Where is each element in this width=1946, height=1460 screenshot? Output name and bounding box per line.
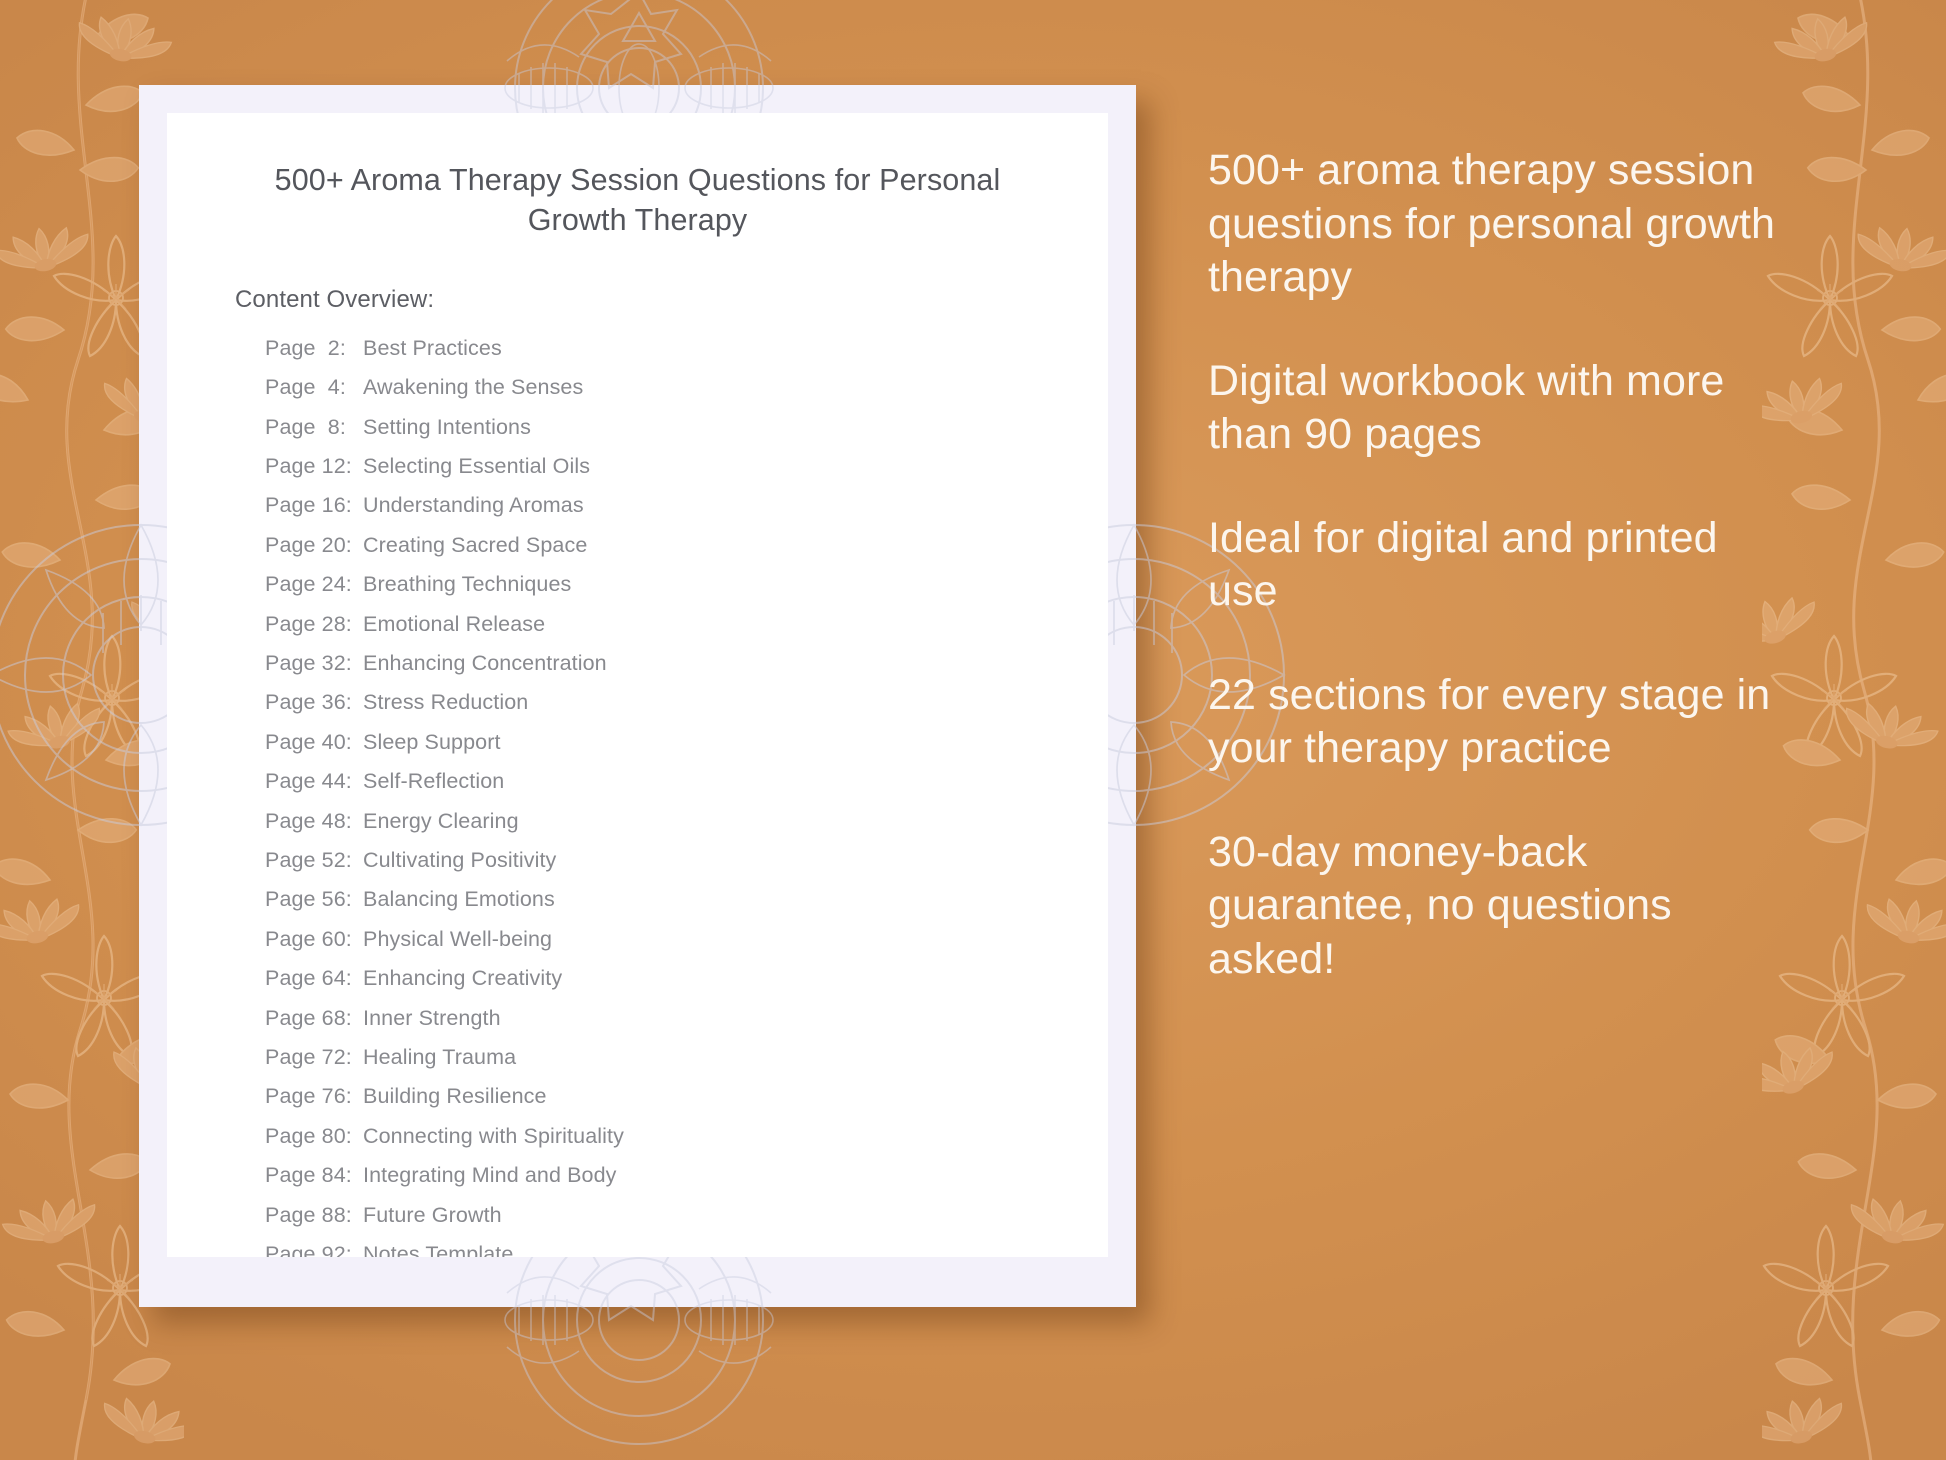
toc-section-title: Self-Reflection — [363, 769, 1108, 794]
toc-section-title: Best Practices — [363, 336, 1108, 361]
toc-page-number: Page 28: — [265, 612, 363, 637]
promo-paragraph: Digital workbook with more than 90 pages — [1208, 355, 1793, 462]
promo-text-column: 500+ aroma therapy session questions for… — [1208, 144, 1793, 986]
table-of-contents: Page 2:Best PracticesPage 4:Awakening th… — [265, 336, 1108, 1257]
toc-page-number: Page 8: — [265, 415, 363, 440]
toc-section-title: Energy Clearing — [363, 809, 1108, 834]
toc-section-title: Stress Reduction — [363, 690, 1108, 715]
toc-entry[interactable]: Page 2:Best Practices — [265, 336, 1108, 375]
toc-page-number: Page 56: — [265, 887, 363, 912]
toc-section-title: Awakening the Senses — [363, 375, 1108, 400]
toc-entry[interactable]: Page 16:Understanding Aromas — [265, 493, 1108, 532]
toc-entry[interactable]: Page 20:Creating Sacred Space — [265, 533, 1108, 572]
toc-page-number: Page 80: — [265, 1124, 363, 1149]
toc-page-number: Page 2: — [265, 336, 363, 361]
toc-section-title: Integrating Mind and Body — [363, 1163, 1108, 1188]
toc-page-number: Page 72: — [265, 1045, 363, 1070]
promo-paragraph: 500+ aroma therapy session questions for… — [1208, 144, 1793, 305]
toc-entry[interactable]: Page 92:Notes Template — [265, 1242, 1108, 1257]
toc-page-number: Page 76: — [265, 1084, 363, 1109]
promo-paragraph: 22 sections for every stage in your ther… — [1208, 669, 1793, 776]
toc-page-number: Page 68: — [265, 1006, 363, 1031]
toc-entry[interactable]: Page 56:Balancing Emotions — [265, 887, 1108, 926]
toc-page-number: Page 40: — [265, 730, 363, 755]
promo-paragraph: 30-day money-back guarantee, no question… — [1208, 826, 1793, 987]
toc-page-number: Page 88: — [265, 1203, 363, 1228]
toc-page-number: Page 24: — [265, 572, 363, 597]
toc-page-number: Page 4: — [265, 375, 363, 400]
document-sheet: 500+ Aroma Therapy Session Questions for… — [167, 113, 1108, 1257]
toc-entry[interactable]: Page 48:Energy Clearing — [265, 809, 1108, 848]
toc-section-title: Enhancing Concentration — [363, 651, 1108, 676]
toc-entry[interactable]: Page 12:Selecting Essential Oils — [265, 454, 1108, 493]
toc-entry[interactable]: Page 8:Setting Intentions — [265, 415, 1108, 454]
toc-entry[interactable]: Page 40:Sleep Support — [265, 730, 1108, 769]
toc-entry[interactable]: Page 28:Emotional Release — [265, 612, 1108, 651]
toc-page-number: Page 36: — [265, 690, 363, 715]
toc-section-title: Sleep Support — [363, 730, 1108, 755]
toc-section-title: Emotional Release — [363, 612, 1108, 637]
toc-page-number: Page 20: — [265, 533, 363, 558]
toc-entry[interactable]: Page 72:Healing Trauma — [265, 1045, 1108, 1084]
toc-entry[interactable]: Page 44:Self-Reflection — [265, 769, 1108, 808]
toc-page-number: Page 52: — [265, 848, 363, 873]
page-title: 500+ Aroma Therapy Session Questions for… — [251, 161, 1024, 241]
toc-page-number: Page 64: — [265, 966, 363, 991]
content-overview-label: Content Overview: — [235, 286, 1108, 314]
toc-section-title: Understanding Aromas — [363, 493, 1108, 518]
toc-section-title: Cultivating Positivity — [363, 848, 1108, 873]
toc-entry[interactable]: Page 32:Enhancing Concentration — [265, 651, 1108, 690]
toc-entry[interactable]: Page 68:Inner Strength — [265, 1006, 1108, 1045]
document-page: 500+ Aroma Therapy Session Questions for… — [139, 85, 1136, 1307]
toc-page-number: Page 44: — [265, 769, 363, 794]
toc-section-title: Creating Sacred Space — [363, 533, 1108, 558]
toc-section-title: Future Growth — [363, 1203, 1108, 1228]
toc-page-number: Page 12: — [265, 454, 363, 479]
toc-section-title: Breathing Techniques — [363, 572, 1108, 597]
toc-page-number: Page 16: — [265, 493, 363, 518]
toc-entry[interactable]: Page 4:Awakening the Senses — [265, 375, 1108, 414]
toc-section-title: Enhancing Creativity — [363, 966, 1108, 991]
toc-section-title: Notes Template — [363, 1242, 1108, 1257]
toc-page-number: Page 60: — [265, 927, 363, 952]
toc-page-number: Page 48: — [265, 809, 363, 834]
toc-page-number: Page 32: — [265, 651, 363, 676]
toc-entry[interactable]: Page 80:Connecting with Spirituality — [265, 1124, 1108, 1163]
toc-entry[interactable]: Page 76:Building Resilience — [265, 1084, 1108, 1123]
toc-section-title: Selecting Essential Oils — [363, 454, 1108, 479]
toc-page-number: Page 92: — [265, 1242, 363, 1257]
toc-entry[interactable]: Page 24:Breathing Techniques — [265, 572, 1108, 611]
toc-section-title: Building Resilience — [363, 1084, 1108, 1109]
toc-section-title: Healing Trauma — [363, 1045, 1108, 1070]
toc-section-title: Inner Strength — [363, 1006, 1108, 1031]
toc-section-title: Connecting with Spirituality — [363, 1124, 1108, 1149]
toc-entry[interactable]: Page 36:Stress Reduction — [265, 690, 1108, 729]
toc-section-title: Setting Intentions — [363, 415, 1108, 440]
promo-paragraph: Ideal for digital and printed use — [1208, 512, 1793, 619]
toc-entry[interactable]: Page 52:Cultivating Positivity — [265, 848, 1108, 887]
toc-section-title: Physical Well-being — [363, 927, 1108, 952]
toc-entry[interactable]: Page 64:Enhancing Creativity — [265, 966, 1108, 1005]
toc-page-number: Page 84: — [265, 1163, 363, 1188]
toc-section-title: Balancing Emotions — [363, 887, 1108, 912]
toc-entry[interactable]: Page 88:Future Growth — [265, 1203, 1108, 1242]
toc-entry[interactable]: Page 84:Integrating Mind and Body — [265, 1163, 1108, 1202]
toc-entry[interactable]: Page 60:Physical Well-being — [265, 927, 1108, 966]
